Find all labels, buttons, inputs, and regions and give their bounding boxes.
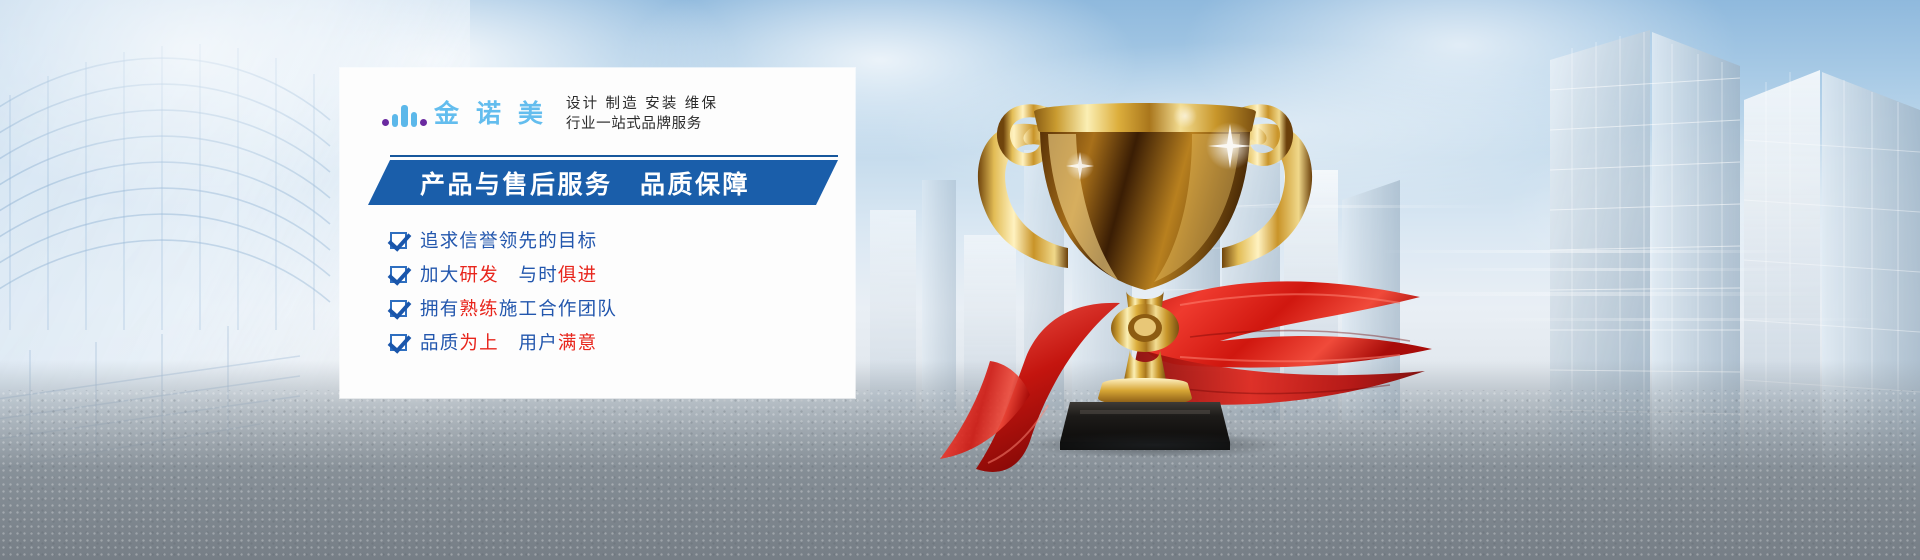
checkbox-checked-icon [390, 232, 407, 249]
feature-checklist: 追求信誉领先的目标 加大研发 与时俱进 拥有熟练施工合作团队 品质为上 用户满意 [390, 223, 820, 359]
banner-top-rule [390, 155, 838, 157]
logo-bar-2 [401, 105, 408, 127]
headline-banner: 产品与售后服务 品质保障 [368, 155, 838, 207]
sound-bars-logo-icon [382, 101, 427, 127]
brand-name: 金 诺 美 [434, 102, 548, 127]
light-streak-decor [1380, 250, 1800, 253]
trophy-shadow-decor [1020, 432, 1290, 458]
brand-tagline: 设计 制造 安装 维保 行业一站式品牌服务 [566, 94, 718, 134]
list-item-label: 拥有熟练施工合作团队 [420, 295, 617, 321]
checkbox-checked-icon [390, 334, 407, 351]
brand-header: 金 诺 美 设计 制造 安装 维保 行业一站式品牌服务 [382, 94, 718, 134]
list-item: 追求信誉领先的目标 [390, 223, 820, 257]
list-item-label: 品质为上 用户满意 [420, 329, 597, 355]
tagline-line-2: 行业一站式品牌服务 [566, 114, 718, 134]
logo-bar-1 [392, 114, 398, 127]
list-item-label: 追求信誉领先的目标 [420, 227, 597, 253]
banner-headline: 产品与售后服务 品质保障 [420, 160, 840, 205]
checkbox-checked-icon [390, 266, 407, 283]
checkbox-checked-icon [390, 300, 407, 317]
list-item-label: 加大研发 与时俱进 [420, 261, 597, 287]
logo-dot-left [382, 119, 389, 126]
light-streak-decor [1460, 318, 1880, 321]
list-item: 加大研发 与时俱进 [390, 257, 820, 291]
logo-dot-right [420, 119, 427, 126]
tagline-line-1: 设计 制造 安装 维保 [566, 94, 718, 114]
list-item: 拥有熟练施工合作团队 [390, 291, 820, 325]
light-streak-decor [1420, 268, 1800, 271]
golden-trophy-decor [930, 50, 1360, 450]
list-item: 品质为上 用户满意 [390, 325, 820, 359]
banner-image: 金 诺 美 设计 制造 安装 维保 行业一站式品牌服务 产品与售后服务 品质保障… [0, 0, 1920, 560]
content-card: 金 诺 美 设计 制造 安装 维保 行业一站式品牌服务 产品与售后服务 品质保障… [340, 68, 855, 398]
logo-bar-3 [411, 112, 417, 127]
